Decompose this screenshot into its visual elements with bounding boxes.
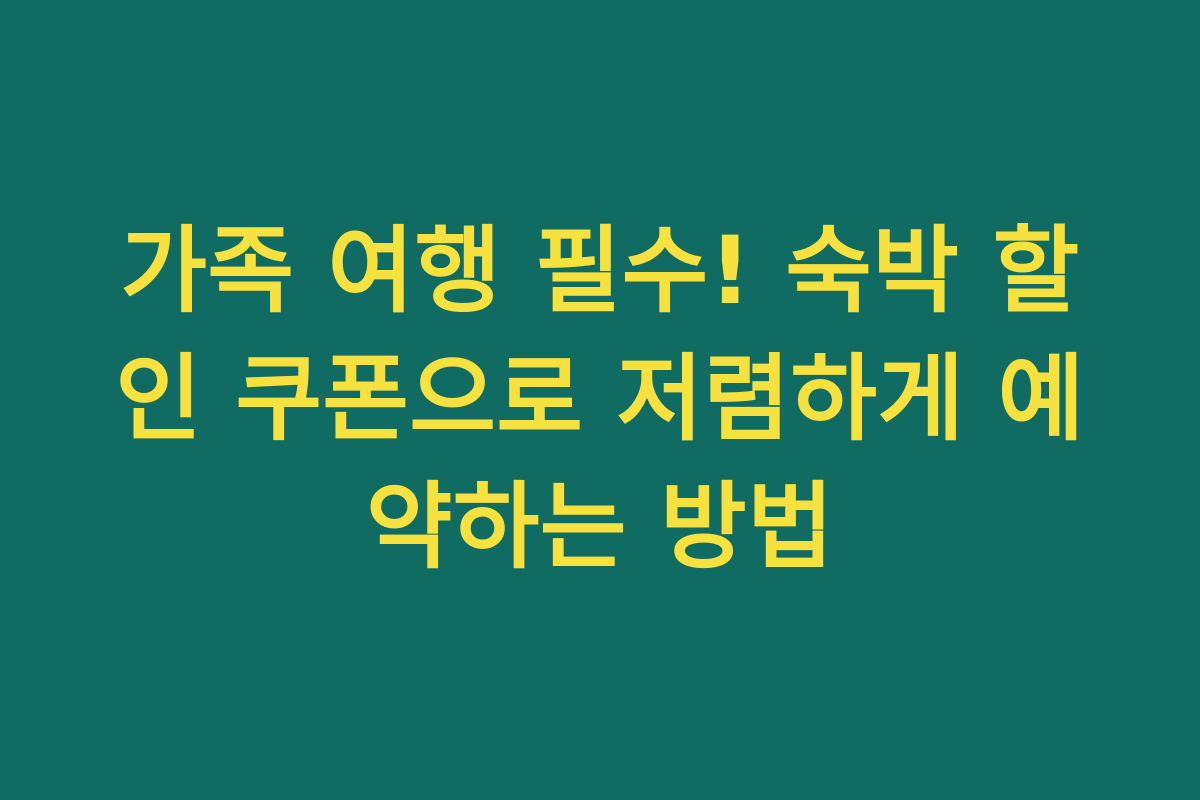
- headline-line-1: 가족 여행 필수! 숙박 할: [70, 208, 1130, 336]
- thumbnail-banner: 가족 여행 필수! 숙박 할 인 쿠폰으로 저렴하게 예 약하는 방법: [0, 0, 1200, 800]
- headline-line-2: 인 쿠폰으로 저렴하게 예: [70, 336, 1130, 464]
- page-title: 가족 여행 필수! 숙박 할 인 쿠폰으로 저렴하게 예 약하는 방법: [70, 208, 1130, 592]
- headline-container: 가족 여행 필수! 숙박 할 인 쿠폰으로 저렴하게 예 약하는 방법: [70, 208, 1130, 592]
- headline-line-3: 약하는 방법: [70, 464, 1130, 592]
